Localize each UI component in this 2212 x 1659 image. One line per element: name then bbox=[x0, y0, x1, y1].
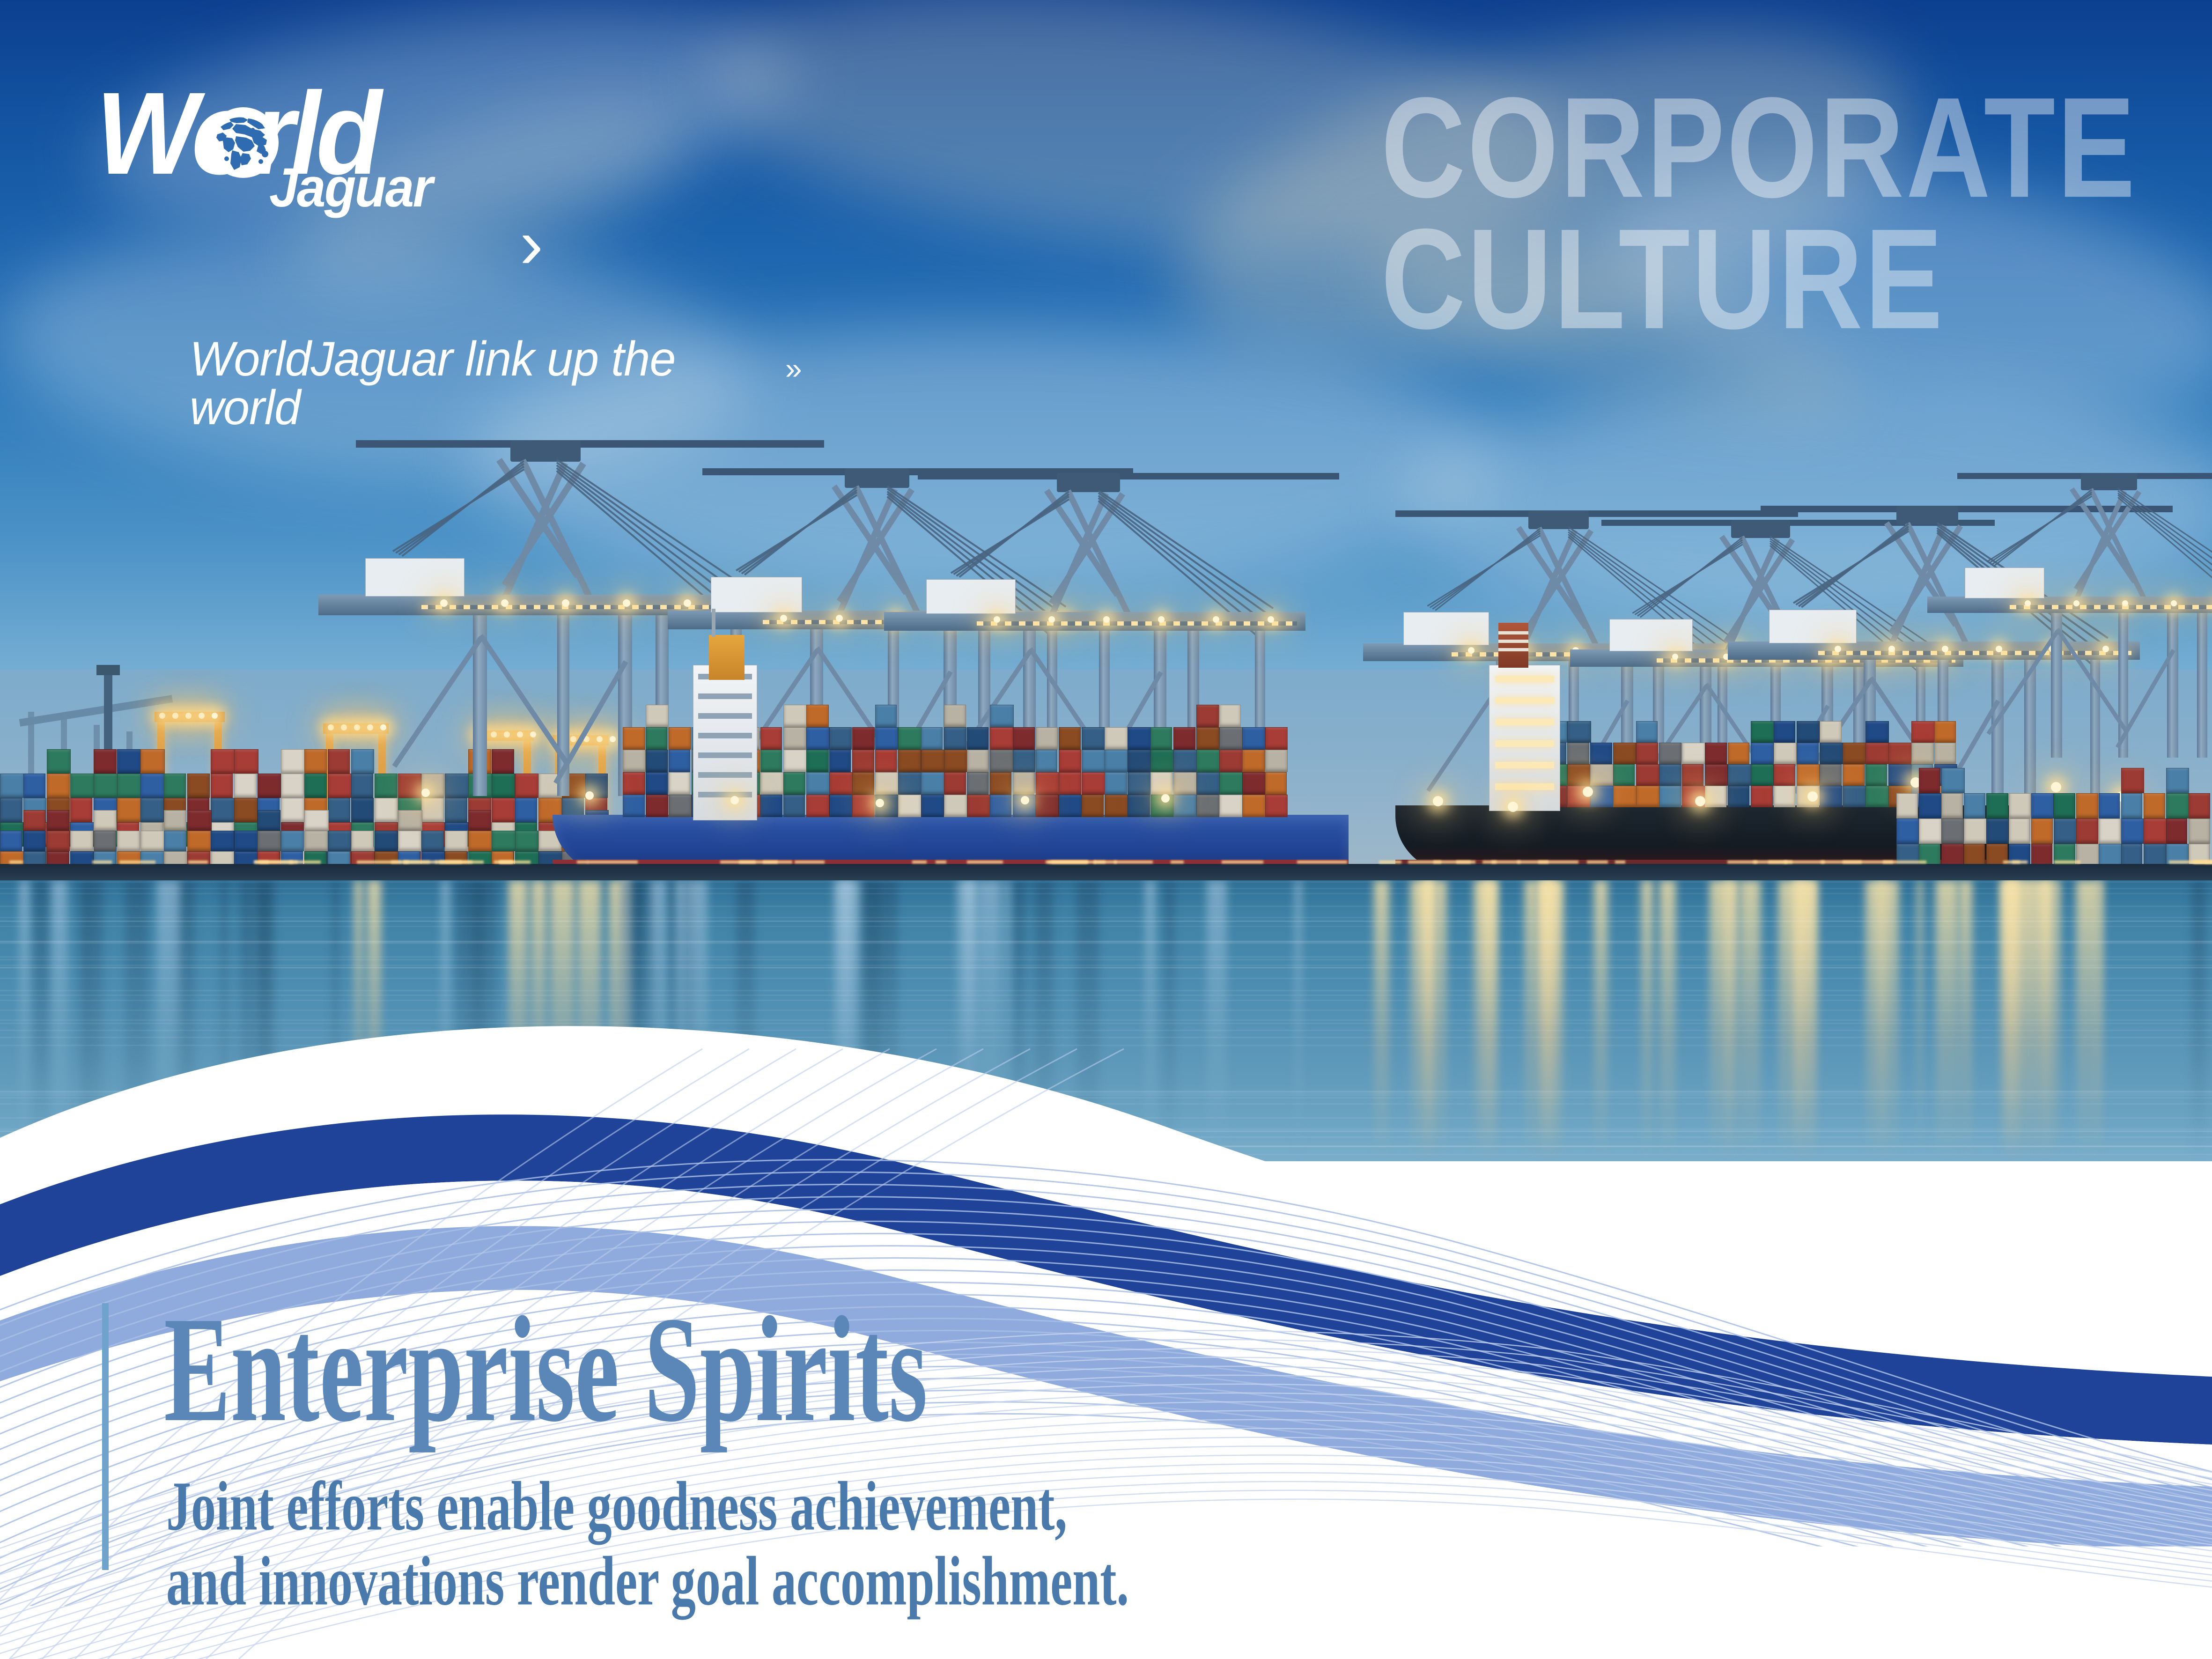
globe-icon bbox=[208, 107, 279, 178]
section-subtitle-line1: Joint efforts enable goodness achievemen… bbox=[166, 1470, 1067, 1542]
logo-jaguar-text: Jaguar bbox=[269, 160, 432, 215]
container-yard-right bbox=[1896, 768, 2212, 871]
page-title-line2: CULTURE bbox=[1381, 214, 2137, 345]
double-chevron-icon: » bbox=[785, 351, 805, 386]
logo-tagline: WorldJaguar link up the world bbox=[190, 335, 735, 432]
section-subtitle-line2: and innovations render goal accomplishme… bbox=[166, 1545, 1129, 1617]
slide-canvas: World bbox=[0, 0, 2212, 1659]
section-heading: Enterprise Spirits bbox=[164, 1297, 928, 1441]
logo-wordmark: World bbox=[96, 80, 752, 187]
chevron-right-icon: › bbox=[520, 218, 543, 269]
page-title: CORPORATE CULTURE bbox=[1381, 82, 2137, 345]
page-title-line1: CORPORATE bbox=[1381, 82, 2137, 214]
accent-bar bbox=[102, 1303, 109, 1570]
company-logo[interactable]: World bbox=[96, 80, 752, 187]
